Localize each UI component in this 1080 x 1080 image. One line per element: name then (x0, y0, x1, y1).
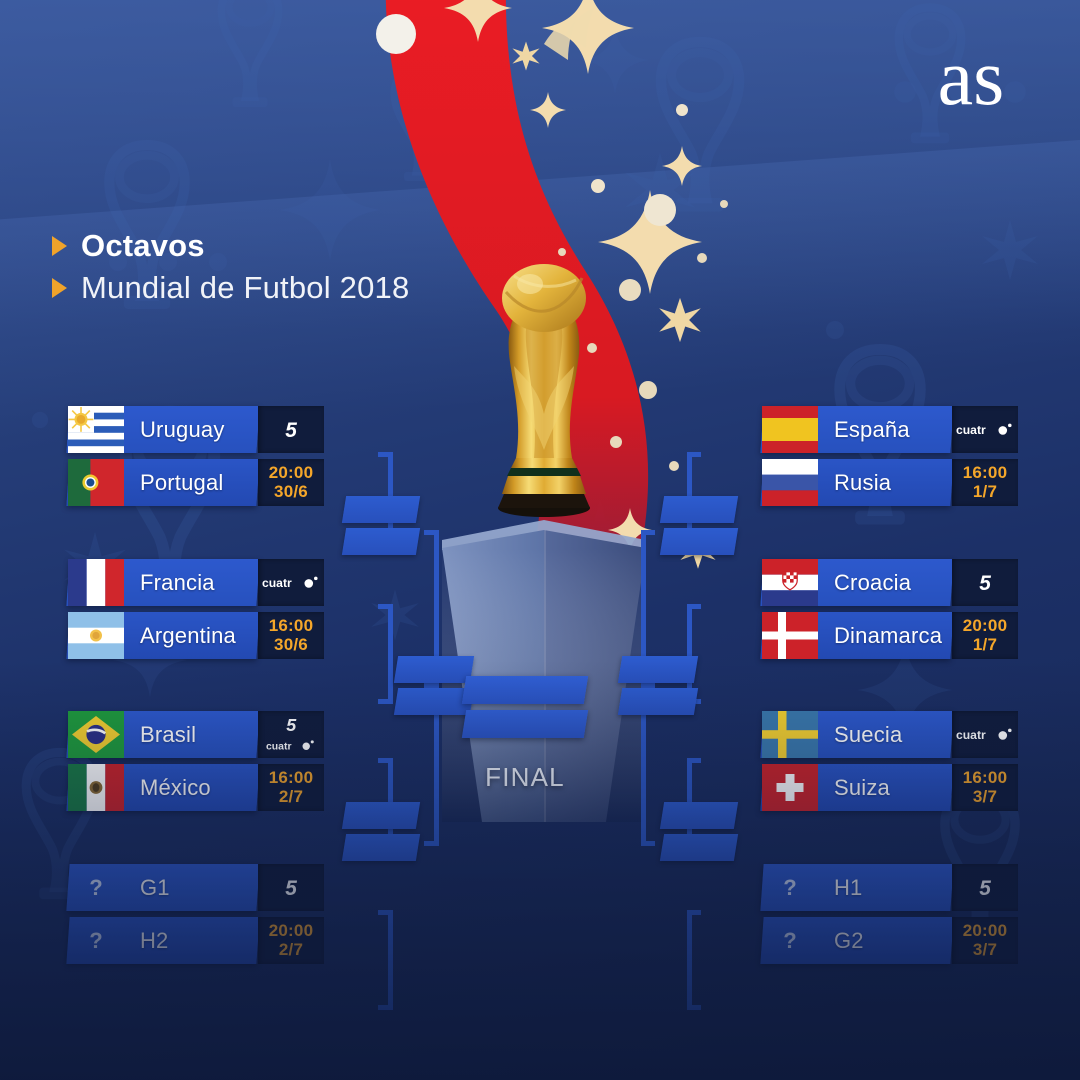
flag-wrap (68, 612, 124, 659)
team-row[interactable]: Rusia 16:00 1/7 (760, 459, 1019, 506)
flag-wrap (762, 559, 818, 606)
team-name: Dinamarca (818, 623, 952, 649)
as-logo-text: as (938, 34, 1005, 120)
team-name: Rusia (818, 470, 952, 496)
telecinco-channel-logo: 5 (972, 570, 998, 596)
row-side-wrap: 20:00 30/6 (258, 459, 324, 506)
cuatro-channel-logo: cuatr (956, 419, 1014, 441)
portugal-flag (68, 459, 124, 506)
team-name: Argentina (124, 623, 258, 649)
france-flag (68, 559, 124, 606)
channel-panel: cuatr (258, 559, 324, 606)
team-row-body[interactable]: Portugal (66, 459, 259, 506)
flag-wrap (68, 406, 124, 453)
slot-bar[interactable] (660, 528, 738, 555)
team-row-body[interactable]: Francia (66, 559, 259, 606)
kickoff-panel: 16:00 1/7 (952, 459, 1018, 506)
headline-secondary: Mundial de Futbol 2018 (81, 270, 409, 306)
argentina-flag (68, 612, 124, 659)
row-side-wrap: cuatr (952, 406, 1018, 453)
team-row[interactable]: Croacia 5 (760, 559, 1019, 606)
slot-bar[interactable] (342, 528, 420, 555)
headline-primary-row: Octavos (52, 228, 409, 264)
flag-wrap (762, 406, 818, 453)
svg-text:cuatr: cuatr (956, 423, 986, 437)
team-row[interactable]: Uruguay 5 (66, 406, 325, 453)
match-date: 1/7 (973, 483, 997, 501)
row-side-wrap: 5 (258, 406, 324, 453)
team-name: España (818, 417, 952, 443)
croatia-flag (762, 559, 818, 606)
team-row-body[interactable]: Uruguay (66, 406, 259, 453)
triangle-right-icon (52, 236, 67, 256)
match-time: 20:00 (269, 464, 313, 482)
slot-bar[interactable] (660, 496, 738, 523)
team-name: Francia (124, 570, 258, 596)
row-side-wrap: 16:00 30/6 (258, 612, 324, 659)
flag-wrap (762, 612, 818, 659)
triangle-right-icon (52, 278, 67, 298)
match-card-francia-argentina[interactable]: Francia cuatr Argentina (68, 559, 324, 659)
flag-wrap (68, 559, 124, 606)
infographic-stage: as Octavos Mundial de Futbol 2018 Urugua… (0, 0, 1080, 1080)
kickoff-panel: 20:00 30/6 (258, 459, 324, 506)
team-name: Uruguay (124, 417, 258, 443)
svg-text:5: 5 (285, 418, 297, 441)
row-side-wrap: 5 (952, 559, 1018, 606)
team-row-body[interactable]: España (760, 406, 953, 453)
channel-panel: 5 (952, 559, 1018, 606)
row-side-wrap: cuatr (258, 559, 324, 606)
match-card-uruguay-portugal[interactable]: Uruguay 5 Portugal 20:00 (68, 406, 324, 506)
team-name: Croacia (818, 570, 952, 596)
match-date: 30/6 (274, 636, 308, 654)
russia-flag (762, 459, 818, 506)
headline-primary: Octavos (81, 228, 205, 264)
kickoff-panel: 16:00 30/6 (258, 612, 324, 659)
cuatro-channel-logo: cuatr (262, 572, 320, 594)
match-date: 1/7 (973, 636, 997, 654)
team-row[interactable]: España cuatr (760, 406, 1019, 453)
as-logo: as (906, 34, 1036, 120)
match-time: 16:00 (269, 617, 313, 635)
row-side-wrap: 20:00 1/7 (952, 612, 1018, 659)
team-row[interactable]: Dinamarca 20:00 1/7 (760, 612, 1019, 659)
headline-secondary-row: Mundial de Futbol 2018 (52, 270, 409, 306)
quarterfinal-slot-left-1[interactable] (344, 496, 418, 555)
match-card-croacia-dinamarca[interactable]: Croacia 5 Dinamarca 20:00 1/7 (762, 559, 1018, 659)
match-time: 16:00 (963, 464, 1007, 482)
svg-text:cuatr: cuatr (262, 576, 292, 590)
headline-block: Octavos Mundial de Futbol 2018 (52, 228, 409, 312)
team-row-body[interactable]: Dinamarca (760, 612, 953, 659)
quarterfinal-slot-right-1[interactable] (662, 496, 736, 555)
match-time: 20:00 (963, 617, 1007, 635)
team-row[interactable]: Portugal 20:00 30/6 (66, 459, 325, 506)
kickoff-panel: 20:00 1/7 (952, 612, 1018, 659)
flag-wrap (68, 459, 124, 506)
team-row[interactable]: Francia cuatr (66, 559, 325, 606)
team-row-body[interactable]: Argentina (66, 612, 259, 659)
team-name: Portugal (124, 470, 258, 496)
team-row-body[interactable]: Croacia (760, 559, 953, 606)
slot-bar[interactable] (342, 496, 420, 523)
team-row-body[interactable]: Rusia (760, 459, 953, 506)
telecinco-channel-logo: 5 (278, 417, 304, 443)
background-bottom-vignette (0, 660, 1080, 1080)
match-card-espana-rusia[interactable]: España cuatr Rusia 16:00 (762, 406, 1018, 506)
flag-wrap (762, 459, 818, 506)
denmark-flag (762, 612, 818, 659)
row-side-wrap: 16:00 1/7 (952, 459, 1018, 506)
match-date: 30/6 (274, 483, 308, 501)
svg-text:5: 5 (979, 571, 991, 594)
channel-panel: 5 (258, 406, 324, 453)
channel-panel: cuatr (952, 406, 1018, 453)
uruguay-flag (68, 406, 124, 453)
spain-flag (762, 406, 818, 453)
team-row[interactable]: Argentina 16:00 30/6 (66, 612, 325, 659)
